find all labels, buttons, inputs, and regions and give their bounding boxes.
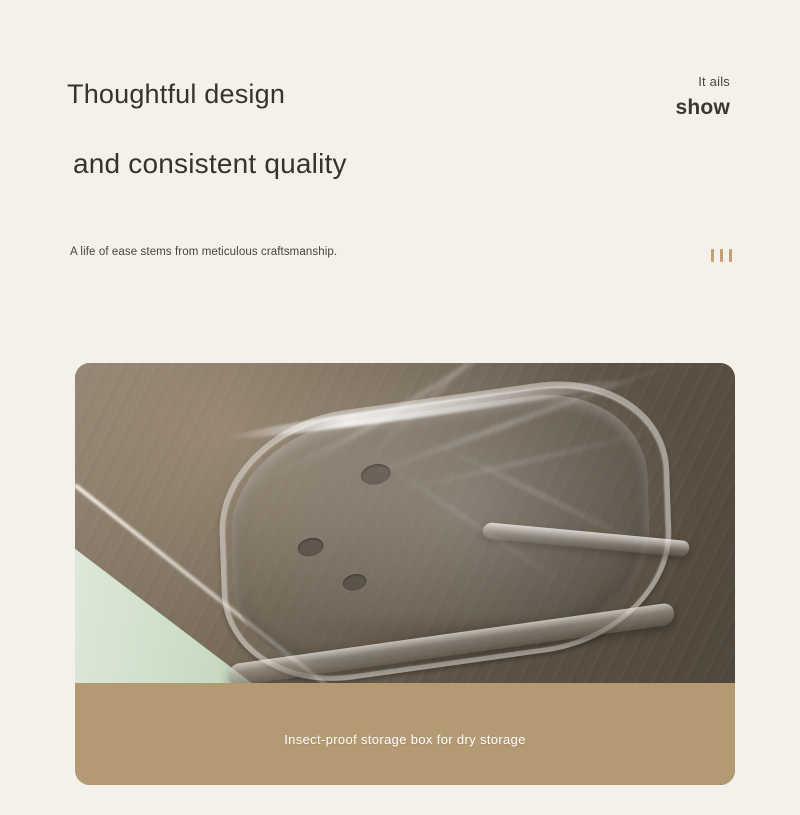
tick-mark-icon-3: [729, 249, 732, 262]
photo-caption-text: Insect-proof storage box for dry storage: [284, 732, 526, 747]
product-photo-card: Insect-proof storage box for dry storage: [75, 363, 735, 785]
tick-marks-decoration: [711, 249, 732, 262]
eyebrow-large-text: show: [676, 93, 730, 123]
tick-mark-icon-2: [720, 249, 723, 262]
headline-line-2: and consistent quality: [73, 148, 347, 180]
header-section: Thoughtful design and consistent quality…: [0, 0, 800, 300]
subtitle-text: A life of ease stems from meticulous cra…: [70, 246, 337, 258]
tick-mark-icon-1: [711, 249, 714, 262]
eyebrow-small-text: It ails: [676, 73, 730, 91]
headline-line-1: Thoughtful design: [67, 79, 285, 110]
photo-caption-bar: Insect-proof storage box for dry storage: [75, 683, 735, 785]
eyebrow-group: It ails show: [676, 73, 730, 123]
